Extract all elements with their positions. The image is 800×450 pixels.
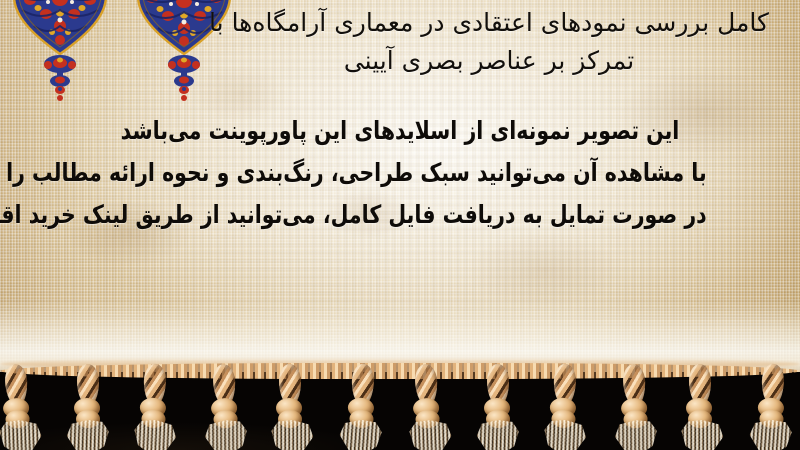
fringe-tassel xyxy=(471,360,533,450)
fringe-tassel xyxy=(125,359,190,450)
slide-body-line-1: این تصویر نمونه‌ای از اسلایدهای این پاور… xyxy=(93,110,706,152)
fringe-thread-brush xyxy=(406,418,453,450)
fringe-tassel xyxy=(535,359,600,450)
fringe-tassel xyxy=(333,359,398,450)
slide-canvas: کامل بررسی نمودهای اعتقادی در معماری آرا… xyxy=(0,0,800,450)
persian-illuminated-medallion-left xyxy=(8,0,112,62)
fringe-thread-brush xyxy=(613,417,661,450)
slide-body-line-3: در صورت تمایل به دریافت فایل کامل، می‌تو… xyxy=(93,194,706,236)
fringe-tassel xyxy=(0,359,54,450)
carpet-fringe-tassels xyxy=(0,360,800,450)
fringe-thread-brush xyxy=(129,416,178,450)
fringe-tassel xyxy=(606,359,671,450)
medallion-pendant-drop xyxy=(30,54,90,114)
slide-title-line-2: تمرکز بر عناصر بصری آیینی xyxy=(196,42,782,80)
slide-title-line-1: کامل بررسی نمودهای اعتقادی در معماری آرا… xyxy=(196,4,782,42)
fringe-tassel xyxy=(61,360,123,450)
fringe-thread-brush xyxy=(476,418,523,450)
fringe-tassel xyxy=(263,360,325,450)
fringe-thread-brush xyxy=(267,417,315,450)
fringe-thread-brush xyxy=(748,418,794,450)
fringe-thread-brush xyxy=(0,418,43,450)
slide-body: این تصویر نمونه‌ای از اسلایدهای این پاور… xyxy=(26,110,774,236)
fringe-tassel xyxy=(743,359,800,450)
fringe-thread-brush xyxy=(203,417,251,450)
slide-body-line-2: با مشاهده آن می‌توانید سبک طراحی، رنگ‌بن… xyxy=(93,152,706,194)
fringe-thread-brush xyxy=(539,416,588,450)
medallion-left-icon xyxy=(8,0,112,58)
fringe-thread-brush xyxy=(338,418,384,450)
slide-title: کامل بررسی نمودهای اعتقادی در معماری آرا… xyxy=(196,4,782,80)
fringe-tassel xyxy=(398,359,463,450)
fringe-thread-brush xyxy=(677,417,725,450)
fringe-thread-brush xyxy=(66,418,113,450)
fringe-tassel xyxy=(673,360,735,450)
fringe-tassel xyxy=(196,359,261,450)
